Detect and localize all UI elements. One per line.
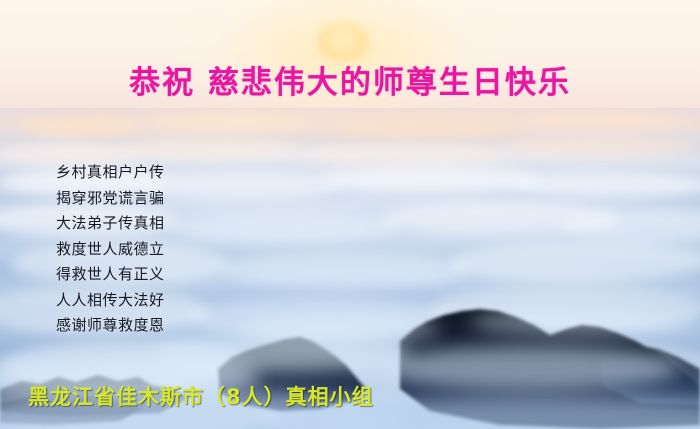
- cloud-puff: [300, 144, 510, 166]
- poem-line: 人人相传大法好: [56, 288, 206, 314]
- cloud-puff: [120, 138, 300, 158]
- cloud-puff: [150, 114, 310, 130]
- poem-line: 得救世人有正义: [56, 262, 206, 288]
- cloud-puff: [500, 136, 700, 156]
- cloud-puff: [320, 166, 540, 194]
- cloud-puff: [20, 118, 140, 136]
- greeting-card: 恭祝 慈悲伟大的师尊生日快乐 乡村真相户户传 揭穿邪党谎言骗 大法弟子传真相 救…: [0, 0, 700, 429]
- cloud-puff: [510, 172, 700, 198]
- cloud-puff: [450, 242, 700, 282]
- cloud-puff: [330, 120, 520, 137]
- poem-block: 乡村真相户户传 揭穿邪党谎言骗 大法弟子传真相 救度世人威德立 得救世人有正义 …: [56, 160, 206, 339]
- cloud-puff: [220, 250, 470, 288]
- poem-line: 揭穿邪党谎言骗: [56, 186, 206, 212]
- poem-line: 感谢师尊救度恩: [56, 313, 206, 339]
- signature-text: 黑龙江省佳木斯市（8人）真相小组: [28, 381, 374, 411]
- poem-line: 救度世人威德立: [56, 237, 206, 263]
- poem-line: 乡村真相户户传: [56, 160, 206, 186]
- page-title: 恭祝 慈悲伟大的师尊生日快乐: [0, 57, 700, 102]
- cloud-puff: [520, 112, 690, 128]
- sun-icon: [317, 22, 369, 62]
- poem-line: 大法弟子传真相: [56, 211, 206, 237]
